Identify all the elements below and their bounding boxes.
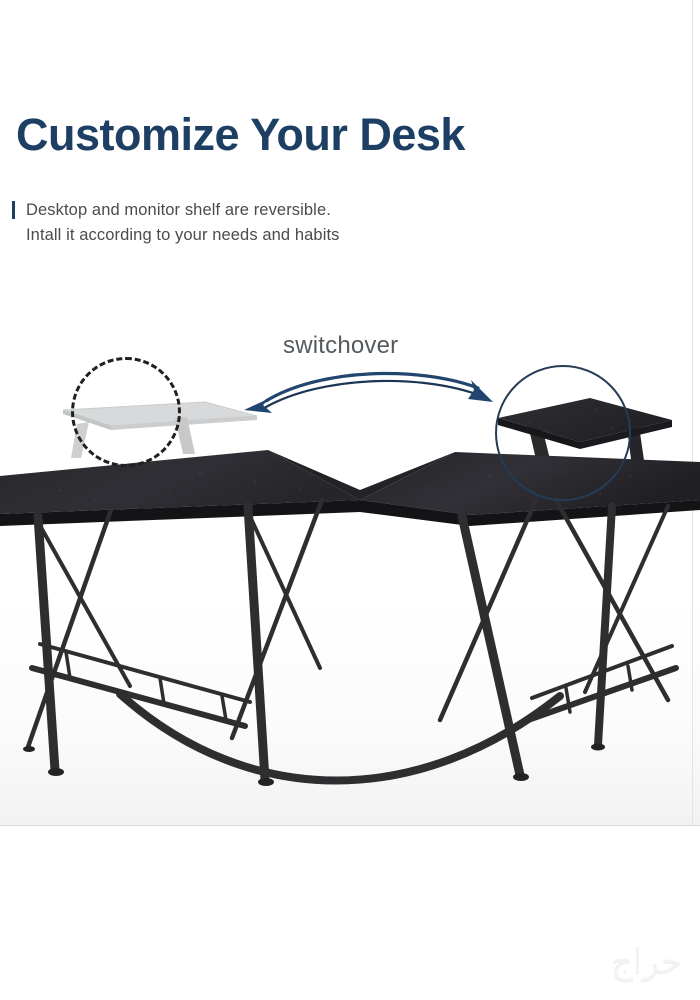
site-watermark: حراج	[611, 942, 682, 982]
desk-frame	[23, 500, 676, 786]
solid-highlight-circle	[495, 365, 631, 501]
left-desktop-wing	[0, 450, 360, 526]
panel-bottom-border	[0, 825, 700, 826]
description-block: Desktop and monitor shelf are reversible…	[12, 198, 340, 248]
description-text: Desktop and monitor shelf are reversible…	[26, 198, 340, 248]
product-image-panel: Customize Your Desk Desktop and monitor …	[0, 0, 700, 826]
x-leg-right-inner	[440, 500, 536, 775]
page-title: Customize Your Desk	[16, 112, 465, 157]
dashed-highlight-circle	[71, 357, 181, 467]
description-line-1: Desktop and monitor shelf are reversible…	[26, 198, 340, 223]
x-leg-right	[556, 500, 668, 745]
description-line-2: Intall it according to your needs and ha…	[26, 223, 340, 248]
x-leg-left	[28, 507, 130, 770]
bullet-marker-icon	[12, 201, 15, 219]
x-leg-center	[232, 500, 322, 780]
page-root: Customize Your Desk Desktop and monitor …	[0, 0, 700, 1000]
